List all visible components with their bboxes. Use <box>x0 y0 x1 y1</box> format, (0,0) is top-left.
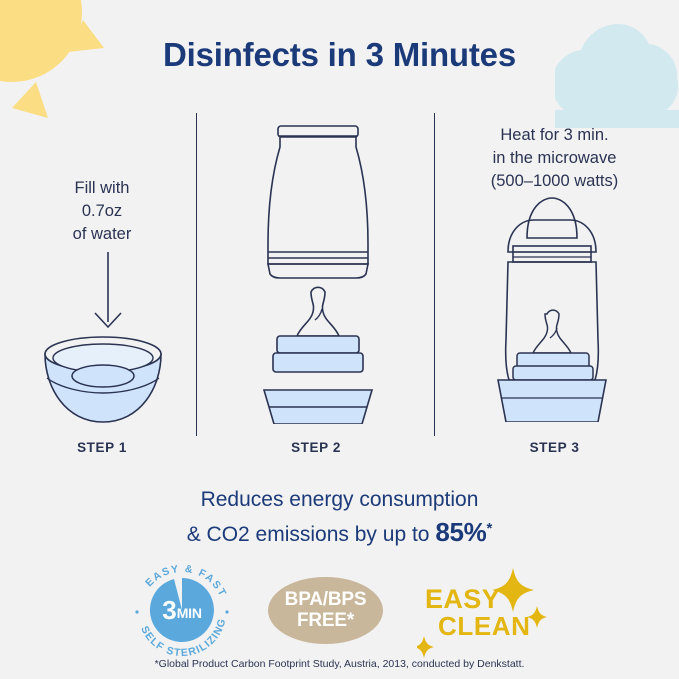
claim-asterisk: * <box>486 520 492 537</box>
step-1-caption-line-3: of water <box>8 223 196 246</box>
step-1-caption: Fill with 0.7oz of water <box>8 177 196 246</box>
bpa-line-2: FREE* <box>297 610 354 631</box>
easy-clean-line-1: EASY <box>425 586 531 613</box>
step-2-label: STEP 2 <box>200 440 432 455</box>
claim-line-2: & CO2 emissions by up to 85%* <box>0 514 679 549</box>
down-arrow-icon <box>88 252 128 330</box>
easy-clean-line-2: CLEAN <box>425 613 531 640</box>
easy-clean-words: EASY CLEAN <box>425 586 531 640</box>
step-3-label: STEP 3 <box>438 440 671 455</box>
assembled-bottle-icon <box>482 190 622 422</box>
bpa-line-1: BPA/BPS <box>285 589 367 610</box>
bpa-bps-free-badge: BPA/BPS FREE* <box>268 577 383 644</box>
step-1-caption-line-2: 0.7oz <box>8 200 196 223</box>
footnote: *Global Product Carbon Footprint Study, … <box>0 658 679 670</box>
easy-clean-badge: EASY CLEAN <box>417 562 549 658</box>
step-3-caption-line-1: Heat for 3 min. <box>438 124 671 147</box>
column-divider-2 <box>434 113 435 436</box>
claim-percent: 85% <box>435 517 486 547</box>
bottle-parts-icon <box>248 114 388 424</box>
claim-line-1: Reduces energy consumption <box>0 485 679 514</box>
badge-row: EASY & FAST SELF STERILIZING 3 MIN BPA/B… <box>0 562 679 658</box>
energy-claim: Reduces energy consumption & CO2 emissio… <box>0 485 679 549</box>
column-divider-1 <box>196 113 197 436</box>
infographic-page: Disinfects in 3 Minutes Fill with 0.7oz … <box>0 0 679 679</box>
page-title: Disinfects in 3 Minutes <box>0 36 679 74</box>
bowl-with-water-icon <box>38 332 168 428</box>
step-3-caption: Heat for 3 min. in the microwave (500–10… <box>438 124 671 193</box>
step-1-caption-line-1: Fill with <box>8 177 196 200</box>
3min-self-sterilizing-badge: EASY & FAST SELF STERILIZING 3 MIN <box>130 562 234 658</box>
step-1-label: STEP 1 <box>8 440 196 455</box>
step-3-caption-line-2: in the microwave <box>438 147 671 170</box>
claim-prefix: & CO2 emissions by up to <box>187 523 436 546</box>
